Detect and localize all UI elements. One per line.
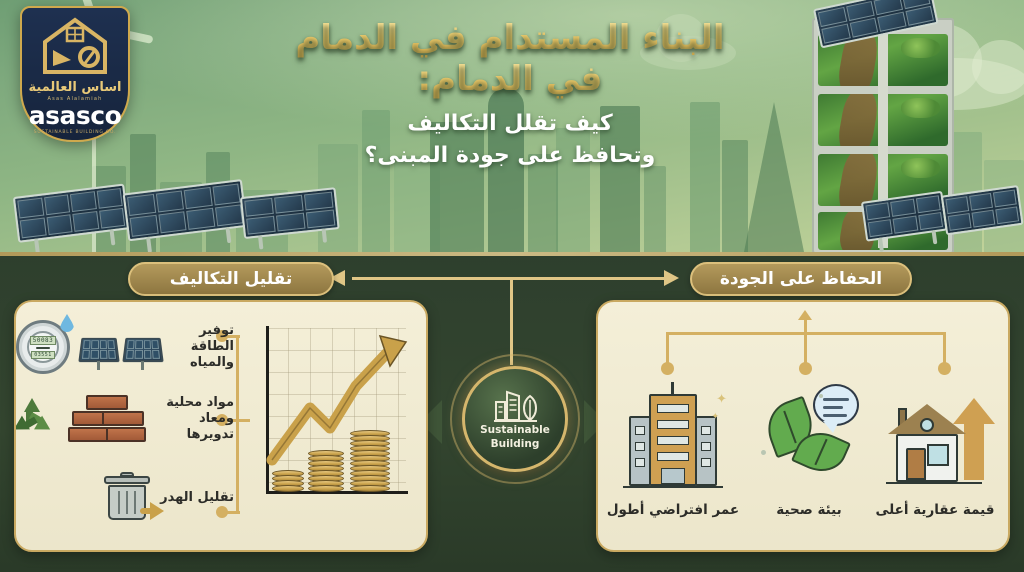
growth-chart-icon [248, 322, 408, 518]
coin-stack [272, 470, 304, 492]
page-subtitle-line1: كيف تقلل التكاليف [170, 109, 850, 139]
left-item-label-2: مواد محلية ومعاد تدويرها [156, 395, 234, 444]
arrow-right-icon [664, 270, 679, 286]
office-building-icon: ✦ ✦ [621, 378, 725, 490]
sustainable-building-badge[interactable]: Sustainable Building [462, 366, 568, 472]
solar-panel-icon [240, 187, 340, 239]
banner-reduce-costs[interactable]: تقليل التكاليف [128, 262, 334, 296]
list-item: ✦ ✦ عمر افتراضي أطول [608, 378, 738, 490]
recycle-icon [14, 394, 58, 444]
trash-bin-icon [104, 474, 150, 522]
list-item: تقليل الهدر [104, 474, 234, 522]
left-item-label-3: تقليل الهدر [160, 490, 234, 506]
card-maintain-quality: ✦ ✦ عمر افتراضي أطول [596, 300, 1010, 552]
dot-decor [819, 394, 823, 398]
list-item: مواد محلية ومعاد تدويرها [14, 394, 234, 444]
coin-stack [308, 450, 344, 492]
logo-english-text: asasco [29, 103, 122, 128]
dot-decor [761, 450, 766, 455]
meter-digits-2: 03551 [31, 351, 55, 359]
list-item: توفير الطاقة والمياه 50083 03551 [16, 320, 234, 374]
badge-line1: Sustainable [480, 424, 550, 436]
page-title-line1: البناء المستدام في الدمام [170, 18, 850, 59]
logo-arabic-text: اساس العالمية [29, 80, 122, 95]
banner-maintain-quality[interactable]: الحفاظ على الجودة [690, 262, 912, 296]
list-item: قيمة عقارية أعلى [870, 378, 1000, 490]
solar-panel-icon [80, 324, 166, 370]
house-tools-icon [39, 16, 111, 78]
leaves-air-icon [757, 378, 861, 490]
coin-stack [350, 430, 390, 492]
list-item: بيئة صحية [744, 378, 874, 490]
logo-tagline: SUSTAINABLE BUILDING CO. [34, 130, 117, 135]
page-subtitle-line2: وتحافظ على جودة المبنى؟ [170, 141, 850, 171]
house-up-arrow-icon [880, 378, 990, 490]
header-scene: البناء المستدام في الدمام في الدمام: كيف… [0, 0, 1024, 252]
sparkle-icon: ✦ [711, 412, 719, 422]
left-item-label-1: توفير الطاقة والمياه [176, 323, 234, 372]
right-card-connector [638, 318, 974, 374]
sparkle-icon: ✦ [716, 392, 727, 407]
card-reduce-costs: توفير الطاقة والمياه 50083 03551 [14, 300, 428, 552]
air-quality-bubble-icon [813, 384, 859, 426]
badge-line2: Building [491, 438, 540, 450]
page-title-line2: في الدمام: [170, 59, 850, 100]
meter-digits: 50083 [30, 336, 57, 345]
right-item-label-3: قيمة عقارية أعلى [855, 502, 1010, 518]
title-block: البناء المستدام في الدمام في الدمام: كيف… [170, 18, 850, 170]
infographic-poster: البناء المستدام في الدمام في الدمام: كيف… [0, 0, 1024, 572]
water-meter-icon: 50083 03551 [16, 320, 70, 374]
brand-logo[interactable]: اساس العالمية Asas Alalamiah asasco SUST… [20, 6, 130, 142]
water-drop-icon [60, 314, 74, 332]
band-top-edge [0, 252, 1024, 256]
building-leaf-icon [492, 388, 538, 422]
arrow-up-icon [964, 422, 984, 480]
brick-stack-icon [68, 395, 146, 443]
